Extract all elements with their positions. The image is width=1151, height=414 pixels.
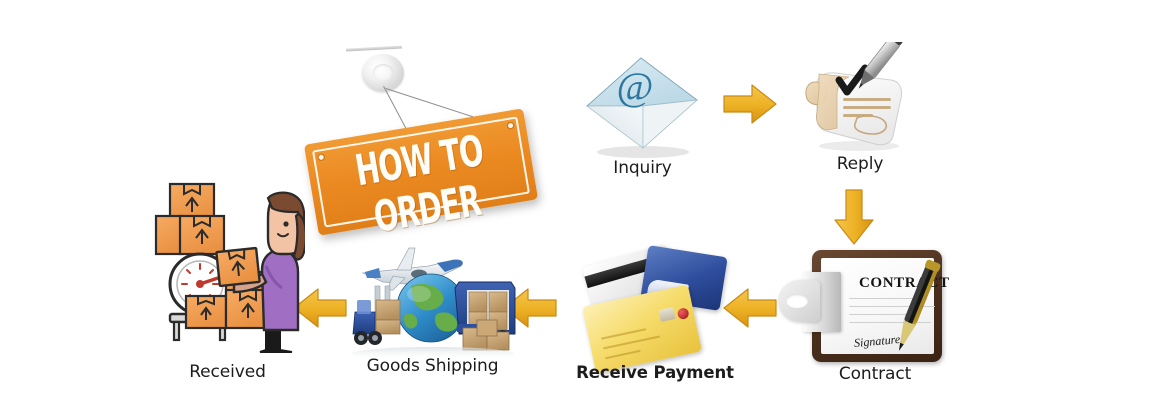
step-label-received: Received xyxy=(189,362,266,382)
card-chip xyxy=(658,307,675,322)
how-to-order-flow-diagram: HOW TO ORDER xyxy=(0,0,1151,414)
scroll-check-pen-icon xyxy=(795,42,925,162)
sign-title: HOW TO ORDER xyxy=(325,123,521,249)
sign-eyelet-right xyxy=(506,121,515,130)
step-reply: Reply xyxy=(795,42,925,192)
step-label-inquiry: Inquiry xyxy=(613,158,671,178)
arrow-reply-to-contract xyxy=(832,188,876,246)
delivery-truck-icon xyxy=(455,282,515,350)
card-embossed-line xyxy=(601,328,646,340)
globe-icon xyxy=(397,274,465,342)
step-label-goods-shipping: Goods Shipping xyxy=(367,356,499,376)
contract-pen-icon xyxy=(888,256,944,356)
forklift-icon xyxy=(353,286,400,345)
step-label-receive-payment: Receive Payment xyxy=(576,363,734,382)
svg-text:@: @ xyxy=(617,64,654,109)
arrow-inquiry-to-reply xyxy=(722,82,778,126)
shipping-art xyxy=(345,238,520,368)
card-embossed-line xyxy=(605,350,641,359)
card-emblem xyxy=(677,307,690,320)
stacked-boxes-top xyxy=(156,184,224,254)
step-label-contract: Contract xyxy=(839,364,911,384)
card-embossed-line xyxy=(603,335,660,349)
step-inquiry: @ Inquiry xyxy=(575,52,710,192)
sign-board: HOW TO ORDER xyxy=(304,108,538,235)
held-box xyxy=(216,248,259,286)
sign-eyelet-left xyxy=(317,153,326,162)
plane-globe-truck-icon xyxy=(345,238,520,363)
step-received: Received xyxy=(150,178,305,393)
envelope-at-icon: @ xyxy=(583,56,701,160)
clipboard-contract-pen-icon: CONTRACT Signature xyxy=(812,250,942,362)
how-to-order-sign: HOW TO ORDER xyxy=(300,40,540,240)
received-art xyxy=(150,178,305,368)
arrow-contract-to-payment xyxy=(722,286,778,330)
sign-crossbar xyxy=(346,46,402,52)
credit-cards-icon xyxy=(580,245,730,375)
step-receive-payment: Receive Payment xyxy=(580,245,730,395)
warehouse-scale-person-icon xyxy=(150,178,305,363)
step-label-reply: Reply xyxy=(837,154,884,174)
reply-art xyxy=(795,42,925,167)
step-contract: CONTRACT Signature xyxy=(800,244,950,394)
clipboard-ring xyxy=(778,280,820,322)
step-goods-shipping: Goods Shipping xyxy=(345,238,520,393)
